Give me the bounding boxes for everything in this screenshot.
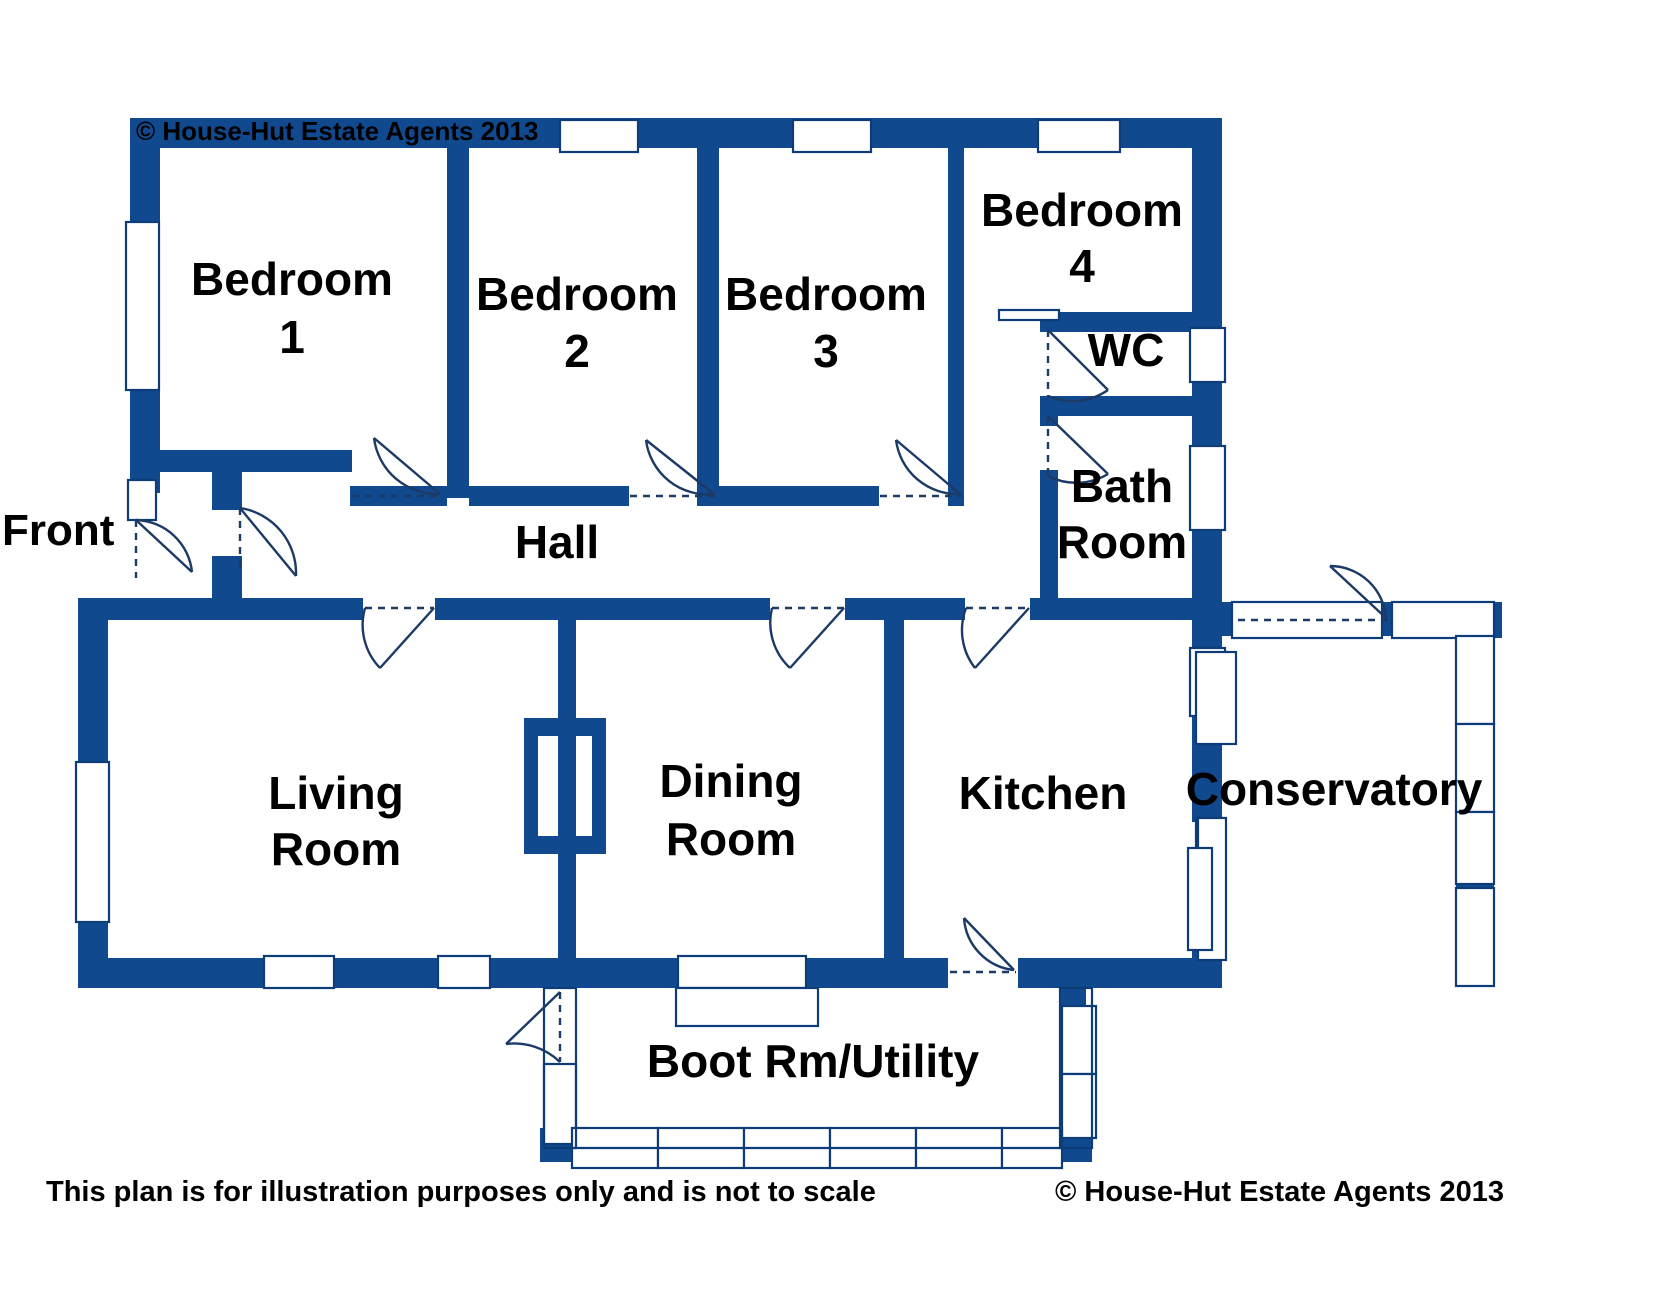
label-bedroom-2-line2: 2: [564, 325, 590, 377]
wall-bottom-a: [78, 958, 266, 988]
chimney-left: [524, 718, 538, 854]
window-conservatory-left: [1196, 652, 1236, 744]
label-bedroom-4-line2: 4: [1069, 240, 1095, 292]
wall-bed1-bed2: [447, 136, 469, 498]
wall-hall-bottom-a: [78, 598, 363, 620]
wall-dining-kitchen: [884, 620, 904, 960]
label-bathroom-line1: Bath: [1071, 460, 1173, 512]
wall-hall-bottom-d: [1030, 598, 1222, 620]
wall-right-mid-a: [1192, 380, 1222, 448]
wall-bottom-e: [1018, 958, 1222, 988]
label-bedroom-2-line1: Bedroom: [476, 268, 678, 320]
footer-copyright: © House-Hut Estate Agents 2013: [1055, 1176, 1504, 1208]
chimney-flue: [558, 718, 576, 854]
label-dining-room-line2: Room: [666, 813, 796, 865]
window-bed2-top: [793, 120, 871, 152]
canvas-background: [0, 0, 1653, 1311]
wall-bottom-d: [800, 958, 948, 988]
window-wc-right: [1190, 328, 1225, 382]
label-living-room-line1: Living: [268, 767, 403, 819]
label-conservatory: Conservatory: [1186, 763, 1483, 815]
wall-hall-bottom-b: [435, 598, 770, 620]
label-bedroom-1-line2: 1: [279, 311, 305, 363]
wall-right-mid-b: [1192, 528, 1222, 610]
window-bath-right: [1190, 446, 1225, 530]
wall-hall-top-b: [469, 486, 629, 506]
wall-bed3-wcwing: [948, 326, 964, 498]
copyright-top: © House-Hut Estate Agents 2013: [136, 116, 539, 146]
window-living-bottom-a: [264, 956, 334, 988]
window-bed1-left: [126, 222, 159, 390]
label-bathroom-line2: Room: [1057, 516, 1187, 568]
window-conservatory-right-a: [1456, 636, 1494, 724]
window-conservatory-right-c: [1456, 812, 1494, 884]
wall-hall-top-d: [719, 486, 879, 506]
window-conservatory-right-d: [1456, 888, 1494, 986]
wall-hall-bottom-c: [845, 598, 965, 620]
window-bed4-top: [1038, 120, 1120, 152]
wall-porch-right-upper: [212, 450, 242, 510]
wall-bottom-b: [330, 958, 440, 988]
label-living-room-line2: Room: [271, 823, 401, 875]
window-conservatory-top-b: [1392, 602, 1494, 638]
chimney-right: [592, 718, 606, 854]
label-bootroom-utility: Boot Rm/Utility: [647, 1035, 980, 1087]
label-bedroom-1-line1: Bedroom: [191, 253, 393, 305]
label-hall: Hall: [515, 516, 599, 568]
footer-note: This plan is for illustration purposes o…: [46, 1176, 876, 1208]
entrance-label: Front: [2, 506, 115, 555]
window-dining-bottom: [678, 956, 806, 988]
label-dining-room-line1: Dining: [659, 755, 802, 807]
label-bedroom-4-line1: Bedroom: [981, 184, 1183, 236]
wall-porch-right-lower: [212, 556, 242, 602]
window-conservatory-left-lower-2: [1188, 848, 1212, 950]
wall-left-living-a: [78, 598, 108, 766]
wall-wc-bath: [1040, 396, 1200, 416]
window-bed1-top: [560, 120, 638, 152]
wall-living-dining-a: [558, 620, 576, 720]
window-living-left: [76, 762, 109, 922]
wall-bed3-bed4: [948, 136, 964, 326]
label-bedroom-3-line1: Bedroom: [725, 268, 927, 320]
window-living-bottom-b: [438, 956, 490, 988]
label-bedroom-3-line2: 3: [813, 325, 839, 377]
wall-right-upper: [1192, 118, 1222, 328]
wall-living-dining-b: [558, 852, 576, 960]
window-bootroom-top: [676, 988, 818, 1026]
label-kitchen: Kitchen: [959, 767, 1128, 819]
wall-bath-left: [1040, 470, 1058, 610]
window-bed4-slider: [999, 310, 1059, 320]
wall-bottom-c: [487, 958, 682, 988]
window-porch-left: [128, 480, 156, 520]
wall-bed2-bed3: [697, 136, 719, 498]
floor-plan: © House-Hut Estate Agents 2013 Front Bed…: [0, 0, 1653, 1311]
label-wc: WC: [1088, 324, 1165, 376]
